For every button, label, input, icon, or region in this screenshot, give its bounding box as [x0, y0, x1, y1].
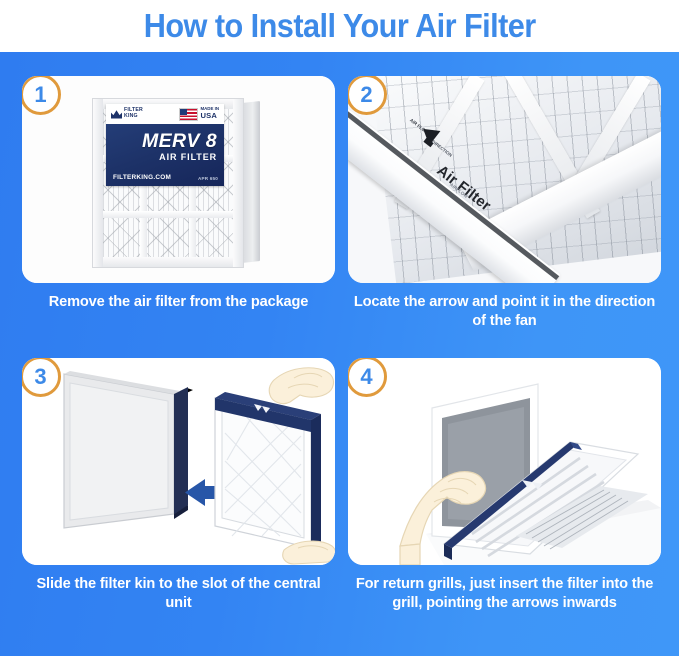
step-image-card-4: 4: [348, 358, 661, 565]
label-header-strip: FILTER KING MADE IN USA: [106, 104, 224, 124]
air-filter-illustration: FILTER KING MADE IN USA: [92, 98, 260, 268]
step-caption-2: Locate the arrow and point it in the dir…: [348, 293, 661, 332]
step-number-2: 2: [360, 82, 372, 108]
step-number-1: 1: [34, 82, 46, 108]
step-card-2: AIR FLOW DIRECTION Air Filter AIRFLOW 2 …: [348, 76, 661, 332]
return-grill-svg: [348, 358, 661, 565]
step-caption-4: For return grills, just insert the filte…: [348, 575, 661, 614]
filter-frame-edge: [233, 99, 243, 268]
air-filter-subtitle: AIR FILTER: [159, 152, 217, 162]
illustration-slide-filter: [22, 358, 335, 565]
page-title: How to Install Your Air Filter: [144, 7, 536, 45]
filter-support-bar: [103, 211, 233, 218]
step-number-4: 4: [360, 364, 372, 390]
brand-wordmark: FILTER KING: [124, 108, 143, 120]
filter-product-label: FILTER KING MADE IN USA: [106, 104, 224, 186]
website-text: FILTERKING.COM: [113, 174, 171, 181]
country-label: USA: [200, 112, 219, 120]
steps-grid: FILTER KING MADE IN USA: [0, 52, 679, 656]
step-card-3: 3 Slide the filter kin to the slot of th…: [22, 358, 335, 614]
step-caption-1: Remove the air filter from the package: [22, 293, 335, 312]
hand-lower: [283, 541, 335, 564]
step-card-4: 4 For return grills, just insert the fil…: [348, 358, 661, 614]
title-band: How to Install Your Air Filter: [0, 0, 679, 52]
apr-rating-text: APR 650: [198, 176, 218, 181]
step-image-card-3: 3: [22, 358, 335, 565]
step-caption-3: Slide the filter kin to the slot of the …: [22, 575, 335, 614]
merv-rating-text: MERV 8: [142, 130, 217, 153]
product-photo-filter: FILTER KING MADE IN USA: [22, 76, 335, 283]
step-image-card-1: FILTER KING MADE IN USA: [22, 76, 335, 283]
us-flag-icon: [179, 108, 198, 121]
brand-line-2: KING: [124, 114, 143, 120]
product-photo-filter-corner: AIR FLOW DIRECTION Air Filter AIRFLOW: [348, 76, 661, 283]
label-footer-strip: FILTERKING.COM APR 650: [113, 174, 218, 181]
air-handler-unit: [64, 371, 193, 528]
hand-upper: [269, 368, 333, 404]
filter-frame-edge: [93, 99, 103, 268]
crown-icon: [111, 110, 122, 119]
filter-side-depth: [242, 101, 260, 263]
made-in-usa-text: MADE IN USA: [200, 107, 219, 120]
filter-king-logo: FILTER KING: [111, 108, 143, 120]
illustration-return-grill: [348, 358, 661, 565]
step-number-3: 3: [34, 364, 46, 390]
step-image-card-2: AIR FLOW DIRECTION Air Filter AIRFLOW 2: [348, 76, 661, 283]
filter-panel-inserted: [215, 392, 321, 548]
step-card-1: FILTER KING MADE IN USA: [22, 76, 335, 312]
filter-frame-edge: [93, 257, 244, 267]
made-in-usa-badge: MADE IN USA: [179, 107, 219, 120]
infographic-poster: How to Install Your Air Filter: [0, 0, 679, 656]
slide-filter-svg: [22, 358, 335, 565]
